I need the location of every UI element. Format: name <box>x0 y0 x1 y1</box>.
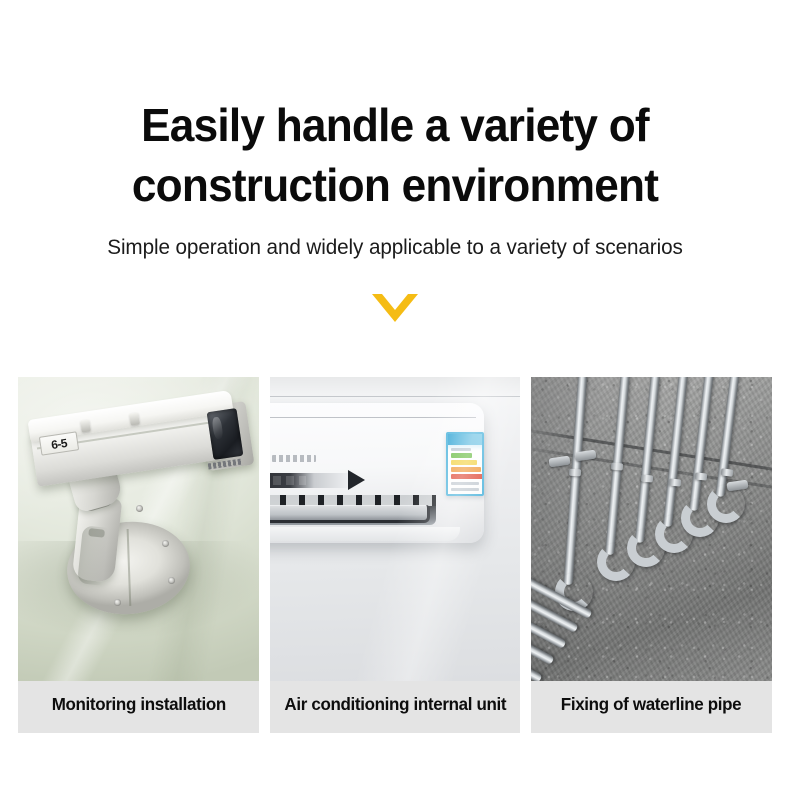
mount-bolt <box>168 577 175 584</box>
photo-waterline-pipes <box>531 377 772 681</box>
scroll-down-divider <box>0 292 790 324</box>
pipe-coupling <box>694 472 707 480</box>
page-title: Easily handle a variety of construction … <box>16 96 774 216</box>
camera-housing-screw <box>129 412 140 425</box>
headline-line-2: construction environment <box>16 156 774 216</box>
caption-label: Monitoring installation <box>52 694 226 715</box>
pipe-coupling <box>568 469 580 477</box>
photo-air-conditioning-unit <box>270 377 519 681</box>
photo-monitoring-installation: 6-5 <box>18 377 259 681</box>
caption-bar-monitoring: Monitoring installation <box>18 681 259 733</box>
mount-bolt <box>114 599 121 606</box>
banner-header: Easily handle a variety of construction … <box>0 0 790 324</box>
caption-bar-air-conditioning: Air conditioning internal unit <box>270 681 519 733</box>
subtitle-ghost-text <box>0 262 790 278</box>
scenario-panel-group: 6-5 Monitoring installation <box>18 377 772 733</box>
scenario-card-air-conditioning[interactable]: Air conditioning internal unit <box>270 377 519 733</box>
pipe-coupling <box>640 474 653 482</box>
headline-line-1: Easily handle a variety of <box>16 96 774 156</box>
caption-bar-waterline: Fixing of waterline pipe <box>531 681 772 733</box>
mount-bolt <box>136 505 143 512</box>
pipe-coupling <box>720 468 733 476</box>
chevron-down-icon <box>372 294 418 322</box>
page-subtitle: Simple operation and widely applicable t… <box>6 236 784 260</box>
camera-housing-screw <box>80 419 91 432</box>
scenario-card-waterline[interactable]: Fixing of waterline pipe <box>531 377 772 733</box>
pipe-coupling <box>668 478 681 486</box>
wall-light-sheen <box>270 377 519 681</box>
caption-label: Fixing of waterline pipe <box>561 694 741 715</box>
camera-mount-shading <box>77 525 119 586</box>
scenario-card-monitoring[interactable]: 6-5 Monitoring installation <box>18 377 259 733</box>
pipe-coupling <box>610 462 623 470</box>
mount-bolt <box>162 540 169 547</box>
caption-label: Air conditioning internal unit <box>284 694 506 715</box>
